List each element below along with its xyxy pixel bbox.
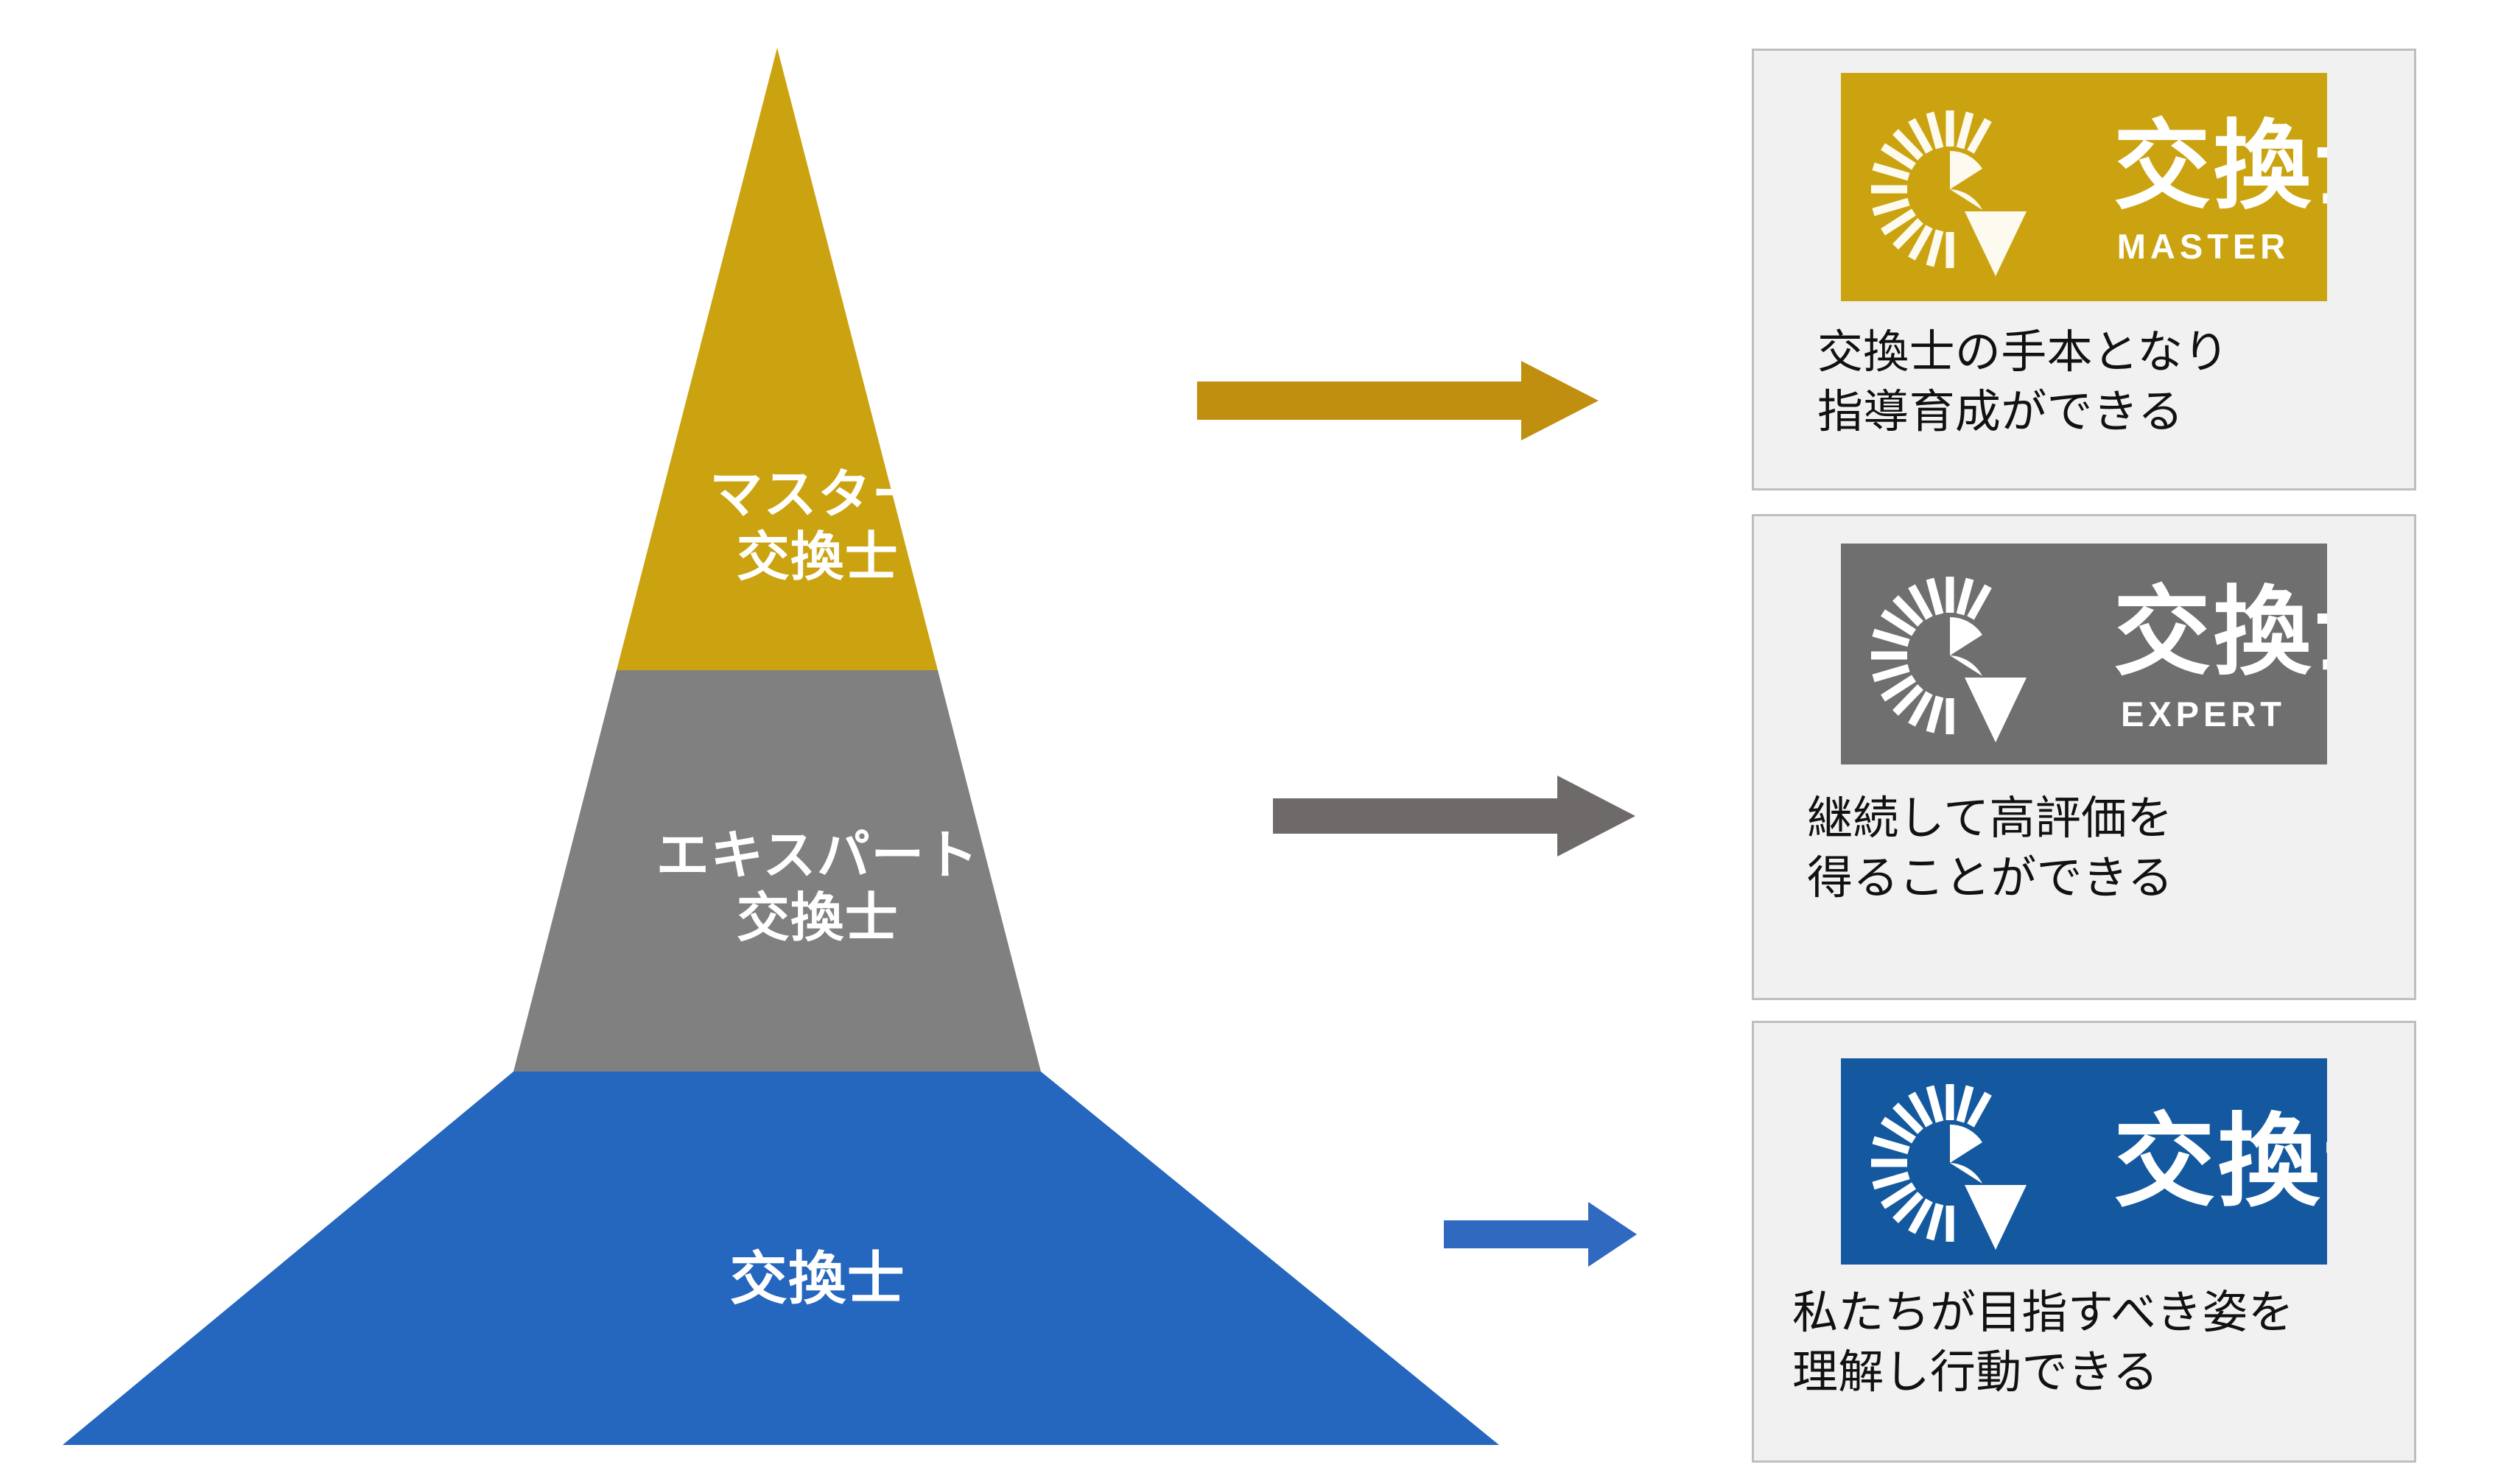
arrow-expert xyxy=(1273,772,1641,860)
card-base-description: 私たちが目指すべき姿を 理解し行動できる xyxy=(1792,1284,2414,1402)
diagram-canvas: マスター 交換士 エキスパート 交換士 交換士 xyxy=(0,0,2498,1484)
badge-logo-text: 交換士 xyxy=(2113,1103,2327,1221)
arrow-expert-icon xyxy=(1273,772,1641,860)
pyramid-label-master: マスター 交換士 xyxy=(560,464,1076,589)
arrow-base xyxy=(1444,1199,1643,1270)
badge-logo-text: 交換士 xyxy=(2113,576,2327,689)
card-expert-description: 継続して高評価を 得ることができる xyxy=(1807,790,2414,908)
pyramid-label-base: 交換士 xyxy=(516,1245,1120,1312)
badge-sub-label: EXPERT xyxy=(2121,694,2286,734)
badge-sub-label: MASTER xyxy=(2117,227,2290,266)
card-master[interactable]: 交換士 MASTER 交換士の手本となり 指導育成ができる xyxy=(1752,49,2416,490)
pyramid-graphic: マスター 交換士 エキスパート 交換士 交換士 xyxy=(44,29,1525,1462)
badge-expert-svg: 交換士 EXPERT xyxy=(1841,544,2327,764)
badge-expert: 交換士 EXPERT xyxy=(1841,544,2327,764)
badge-logo-text: 交換士 xyxy=(2113,110,2327,223)
badge-base-svg: 交換士 xyxy=(1841,1058,2327,1265)
arrow-master xyxy=(1197,357,1607,446)
card-base[interactable]: 交換士 私たちが目指すべき姿を 理解し行動できる xyxy=(1752,1021,2416,1463)
pyramid-label-expert: エキスパート 交換士 xyxy=(501,825,1134,950)
arrow-master-icon xyxy=(1197,357,1607,446)
badge-master: 交換士 MASTER xyxy=(1841,73,2327,301)
arrow-base-icon xyxy=(1444,1199,1643,1270)
badge-master-svg: 交換士 MASTER xyxy=(1841,73,2327,301)
card-expert[interactable]: 交換士 EXPERT 継続して高評価を 得ることができる xyxy=(1752,514,2416,1000)
badge-base: 交換士 xyxy=(1841,1058,2327,1265)
card-master-description: 交換士の手本となり 指導育成ができる xyxy=(1817,323,2414,442)
